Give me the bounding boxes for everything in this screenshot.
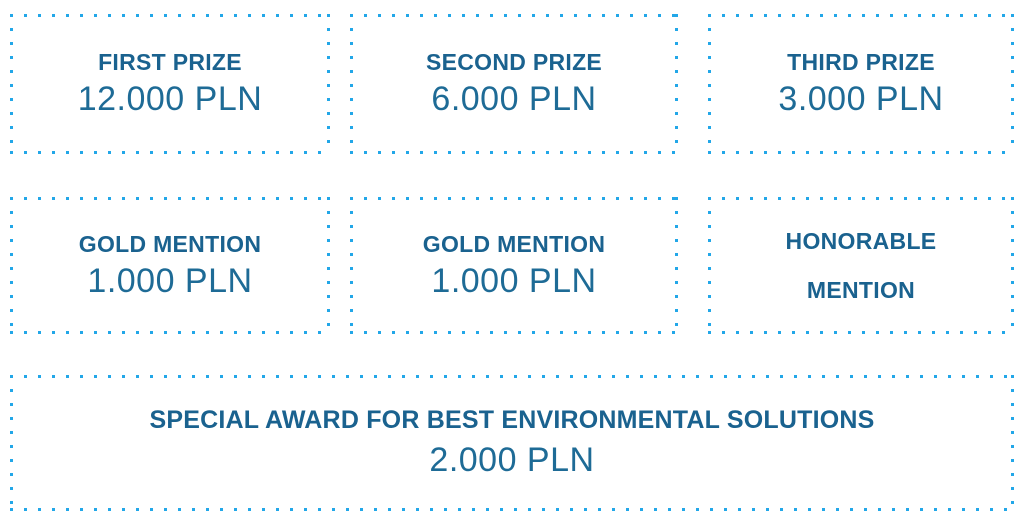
prize-card-second: SECOND PRIZE 6.000 PLN [350, 14, 678, 154]
prize-card-first: FIRST PRIZE 12.000 PLN [10, 14, 330, 154]
prize-title: SECOND PRIZE [426, 50, 602, 74]
prize-title: GOLD MENTION [423, 232, 605, 256]
special-award-title: SPECIAL AWARD FOR BEST ENVIRONMENTAL SOL… [150, 407, 875, 433]
prize-board: FIRST PRIZE 12.000 PLN SECOND PRIZE 6.00… [0, 0, 1024, 532]
prize-amount: 3.000 PLN [778, 82, 943, 118]
prize-card-gold-mention-1: GOLD MENTION 1.000 PLN [10, 197, 330, 334]
special-award-banner: SPECIAL AWARD FOR BEST ENVIRONMENTAL SOL… [10, 375, 1014, 511]
prize-amount: 1.000 PLN [431, 264, 596, 300]
prize-amount: 6.000 PLN [431, 82, 596, 118]
prize-title: GOLD MENTION [79, 232, 261, 256]
prize-card-third: THIRD PRIZE 3.000 PLN [708, 14, 1014, 154]
prize-amount: 12.000 PLN [78, 82, 263, 118]
prize-title: FIRST PRIZE [98, 50, 242, 74]
prize-title: THIRD PRIZE [787, 50, 935, 74]
special-award-amount: 2.000 PLN [429, 443, 594, 479]
prize-title-line-2: MENTION [807, 278, 915, 302]
prize-card-honorable-mention: HONORABLE MENTION [708, 197, 1014, 334]
prize-card-gold-mention-2: GOLD MENTION 1.000 PLN [350, 197, 678, 334]
prize-amount: 1.000 PLN [87, 264, 252, 300]
prize-title-line-1: HONORABLE [786, 229, 937, 253]
